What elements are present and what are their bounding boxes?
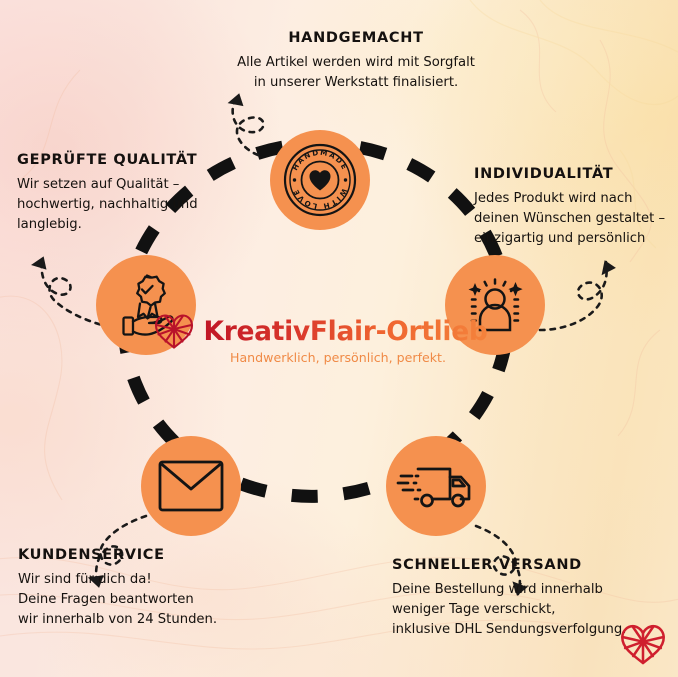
feature-icon-handmade[interactable]: HANDMADE WITH LOVE: [270, 130, 370, 230]
feature-title-individuality: INDIVIDUALITÄT: [474, 166, 678, 182]
feature-title-service: KUNDENSERVICE: [18, 547, 253, 563]
feature-text-individuality: INDIVIDUALITÄT Jedes Produkt wird nach d…: [474, 166, 678, 249]
arrow-individuality-head: [597, 258, 616, 276]
brand-name: KreativFlair-Ortlieb: [203, 316, 487, 347]
feature-text-quality: GEPRÜFTE QUALITÄT Wir setzen auf Qualitä…: [17, 152, 242, 235]
handmade-with-love-stamp-icon: HANDMADE WITH LOVE: [280, 140, 360, 220]
arrow-individuality-path: [540, 262, 607, 330]
feature-title-quality: GEPRÜFTE QUALITÄT: [17, 152, 242, 168]
feature-title-handmade: HANDGEMACHT: [206, 30, 506, 46]
geometric-heart-icon: [154, 313, 194, 349]
feature-body-quality: Wir setzen auf Qualität – hochwertig, na…: [17, 175, 242, 235]
infographic-poster: HANDMADE WITH LOVE: [0, 0, 678, 677]
feature-title-shipping: SCHNELLER VERSAND: [392, 557, 657, 573]
feature-body-shipping: Deine Bestellung wird innerhalb weniger …: [392, 580, 657, 640]
brand-logo: KreativFlair-Ortlieb Handwerklich, persö…: [186, 313, 456, 365]
feature-icon-shipping[interactable]: [386, 436, 486, 536]
delivery-truck-icon: [396, 456, 476, 516]
corner-geometric-heart-icon: [620, 623, 666, 665]
brand-tagline: Handwerklich, persönlich, perfekt.: [230, 350, 446, 365]
feature-body-individuality: Jedes Produkt wird nach deinen Wünschen …: [474, 189, 678, 249]
arrow-quality-head: [31, 253, 51, 271]
feature-text-service: KUNDENSERVICE Wir sind für dich da! Dein…: [18, 547, 253, 630]
feature-text-handmade: HANDGEMACHT Alle Artikel werden wird mit…: [206, 30, 506, 93]
brand-logo-row: KreativFlair-Ortlieb: [154, 313, 487, 349]
feature-icon-service[interactable]: [141, 436, 241, 536]
arrow-handmade-head: [228, 91, 247, 108]
feature-text-shipping: SCHNELLER VERSAND Deine Bestellung wird …: [392, 557, 657, 640]
envelope-icon: [158, 460, 224, 512]
feature-body-service: Wir sind für dich da! Deine Fragen beant…: [18, 570, 253, 630]
feature-body-handmade: Alle Artikel werden wird mit Sorgfalt in…: [206, 53, 506, 93]
